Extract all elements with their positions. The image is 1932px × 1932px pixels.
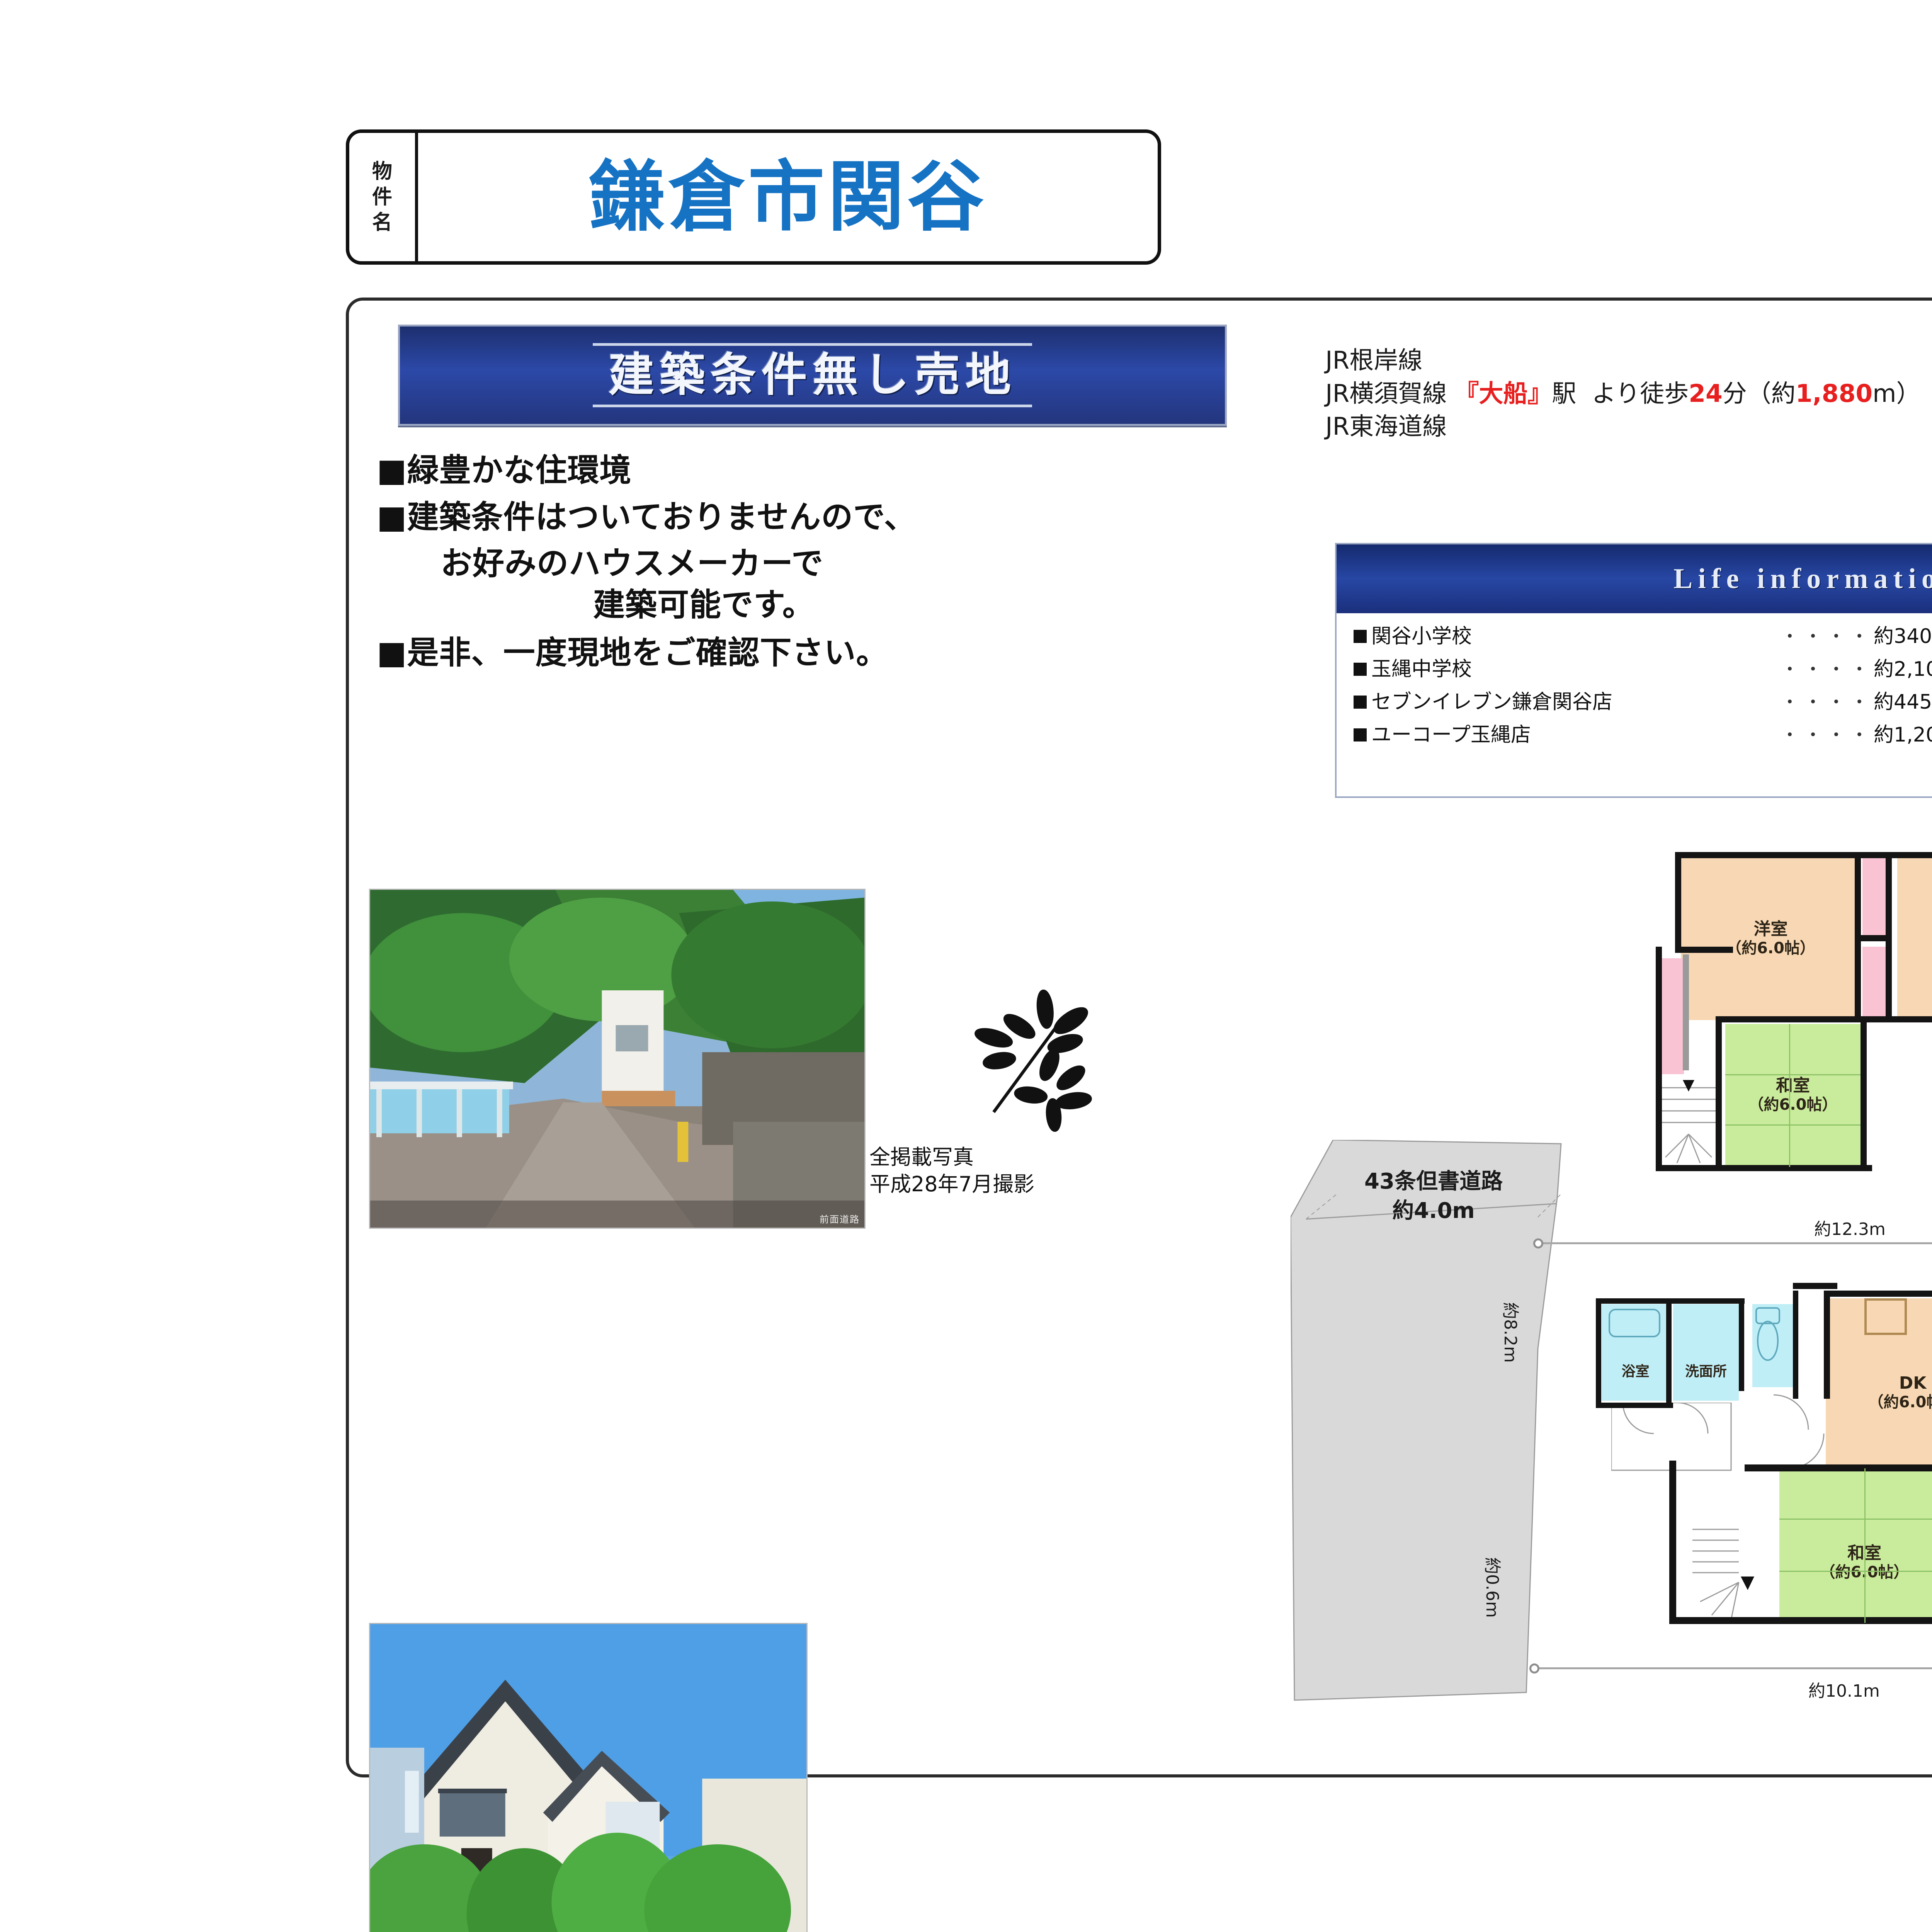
headline-banner-text: 建築条件無し売地	[608, 348, 1016, 401]
property-title-box: 物 件 名 鎌倉市関谷	[346, 129, 1161, 265]
headline-banner: 建築条件無し売地	[398, 325, 1227, 426]
station-name: 『大船』	[1454, 379, 1552, 408]
floorplan-1f: 浴室 洗面所 DK （約6.0帖） 洋室 （約4.5帖） 和室 （約6.0帖）	[1577, 1275, 1932, 1662]
photo-caption-front-road: 前面道路	[820, 1212, 860, 1225]
facility-name: ユーコープ玉縄店	[1371, 725, 1781, 745]
bullet-square-icon	[1354, 630, 1367, 643]
access-line-2: JR横須賀線 『大船』駅 より徒歩24分（約1,880m）	[1325, 377, 1932, 410]
facility-name: 関谷小学校	[1371, 626, 1781, 646]
property-name-text: 鎌倉市関谷	[589, 159, 987, 235]
photo-disclaimer-line-2: 平成28年7月撮影	[869, 1171, 1140, 1198]
facility-name: 玉縄中学校	[1371, 659, 1781, 679]
feature-bullet-list: ■緑豊かな住環境 ■建築条件はついておりませんので、 お好みのハウスメーカーで …	[377, 450, 1277, 679]
room-area: （約6.0帖）	[1726, 939, 1815, 958]
walk-minutes: 24	[1689, 379, 1723, 408]
walk-prefix: より徒歩	[1592, 379, 1689, 408]
walk-tail: m）	[1872, 379, 1920, 408]
road-label-line-1: 43条但書道路	[1314, 1167, 1553, 1196]
photo-exterior-1: 外 観	[369, 1623, 808, 1932]
dot-leader: ・・・・	[1781, 726, 1874, 744]
room-2f-washitsu: 和室 （約6.0帖）	[1725, 1024, 1861, 1167]
room-2f-yoshitsu-1: 洋室 （約6.0帖）	[1681, 858, 1861, 1020]
room-name: 洋室	[1754, 920, 1788, 939]
page-title: 鎌倉市関谷	[418, 133, 1158, 261]
train-access-info: JR根岸線 JR横須賀線 『大船』駅 より徒歩24分（約1,880m） JR東海…	[1325, 344, 1932, 443]
closet-2f-b	[1862, 947, 1886, 1020]
leaf-sprig-icon	[966, 989, 1113, 1132]
list-item: 関谷小学校 ・・・・ 約340m（徒歩5分）	[1354, 626, 1932, 646]
facility-distance: 約1,205m（徒歩16分）	[1874, 725, 1932, 745]
staircase-2f	[1662, 1076, 1716, 1167]
dimension-top: 約12.3m	[1814, 1215, 1886, 1240]
dimension-dot	[1533, 1238, 1543, 1248]
staircase-1f	[1692, 1519, 1776, 1623]
closet-2f-a	[1862, 858, 1886, 935]
room-2f-yoshitsu-2: 洋室 （約6.0帖）	[1897, 858, 1932, 1020]
road-label: 43条但書道路 約4.0m	[1314, 1167, 1553, 1225]
room-name: 和室	[1776, 1077, 1810, 1095]
dimension-left-upper: 約8.2m	[1500, 1302, 1524, 1363]
room-area: （約6.0帖）	[1748, 1095, 1838, 1114]
dimension-left-lower: 約0.6m	[1481, 1557, 1506, 1618]
list-item: ユーコープ玉縄店 ・・・・ 約1,205m（徒歩16分）	[1354, 725, 1932, 745]
bullet-square-icon	[1354, 663, 1367, 676]
dimension-line-bottom	[1533, 1667, 1932, 1669]
dot-leader: ・・・・	[1781, 693, 1874, 711]
photo-front-road: 前面道路	[369, 889, 866, 1229]
facility-distance: 約2,100m（徒歩27分）	[1874, 659, 1932, 679]
dimension-bottom: 約10.1m	[1808, 1677, 1880, 1702]
room-area: （約6.0帖）	[1868, 1393, 1932, 1412]
bullet-2: ■建築条件はついておりませんので、	[377, 497, 1277, 538]
floorplan-2f: 洋室 （約6.0帖） 洋室 （約6.0帖） 和室 （約6.0帖）	[1654, 842, 1932, 1175]
label-char-3: 名	[372, 213, 392, 233]
access-line-1: JR根岸線	[1325, 344, 1932, 377]
property-name-label: 物 件 名	[349, 133, 418, 261]
label-char-2: 件	[372, 187, 392, 207]
room-1f-washitsu: 和室 （約6.0帖）	[1779, 1468, 1932, 1623]
road-label-line-2: 約4.0m	[1314, 1196, 1553, 1226]
facility-distance: 約340m（徒歩5分）	[1874, 626, 1932, 646]
dimension-line-top	[1538, 1242, 1932, 1244]
dot-leader: ・・・・	[1781, 660, 1874, 678]
life-information-header: Life information	[1337, 544, 1932, 613]
room-name: DK	[1899, 1374, 1927, 1393]
access-line-3: JR東海道線	[1325, 410, 1932, 443]
access-line-name: JR横須賀線	[1325, 379, 1447, 408]
life-information-box: Life information 関谷小学校 ・・・・ 約340m（徒歩5分） …	[1335, 543, 1932, 798]
photo-disclaimer: 全掲載写真 平成28年7月撮影	[869, 1144, 1140, 1198]
site-road-polygon	[1291, 1140, 1577, 1727]
facility-name: セブンイレブン鎌倉関谷店	[1371, 692, 1781, 712]
dot-leader: ・・・・	[1781, 628, 1874, 645]
life-information-title: Life information	[1673, 563, 1932, 595]
kitchen-counter	[1864, 1298, 1907, 1335]
dimension-dot	[1529, 1663, 1539, 1673]
list-item: セブンイレブン鎌倉関谷店 ・・・・ 約445m（徒歩6分）	[1354, 692, 1932, 712]
bullet-3: ■是非、一度現地をご確認下さい。	[377, 633, 1277, 674]
bullet-1: ■緑豊かな住環境	[377, 450, 1277, 492]
closet-2f-c	[1662, 958, 1684, 1074]
facility-distance: 約445m（徒歩6分）	[1874, 692, 1932, 712]
station-suffix: 駅	[1552, 379, 1576, 408]
walk-distance: 1,880	[1796, 379, 1872, 408]
label-char-1: 物	[372, 162, 392, 182]
walk-unit: 分（約	[1723, 379, 1796, 408]
bullet-square-icon	[1354, 728, 1367, 742]
life-information-list: 関谷小学校 ・・・・ 約340m（徒歩5分） 玉縄中学校 ・・・・ 約2,100…	[1337, 613, 1932, 745]
bullet-square-icon	[1354, 696, 1367, 709]
photo-disclaimer-line-1: 全掲載写真	[869, 1144, 1140, 1171]
bullet-2-cont-2: 建築可能です。	[377, 585, 1277, 626]
list-item: 玉縄中学校 ・・・・ 約2,100m（徒歩27分）	[1354, 659, 1932, 679]
bullet-2-cont-1: お好みのハウスメーカーで	[377, 543, 1277, 585]
